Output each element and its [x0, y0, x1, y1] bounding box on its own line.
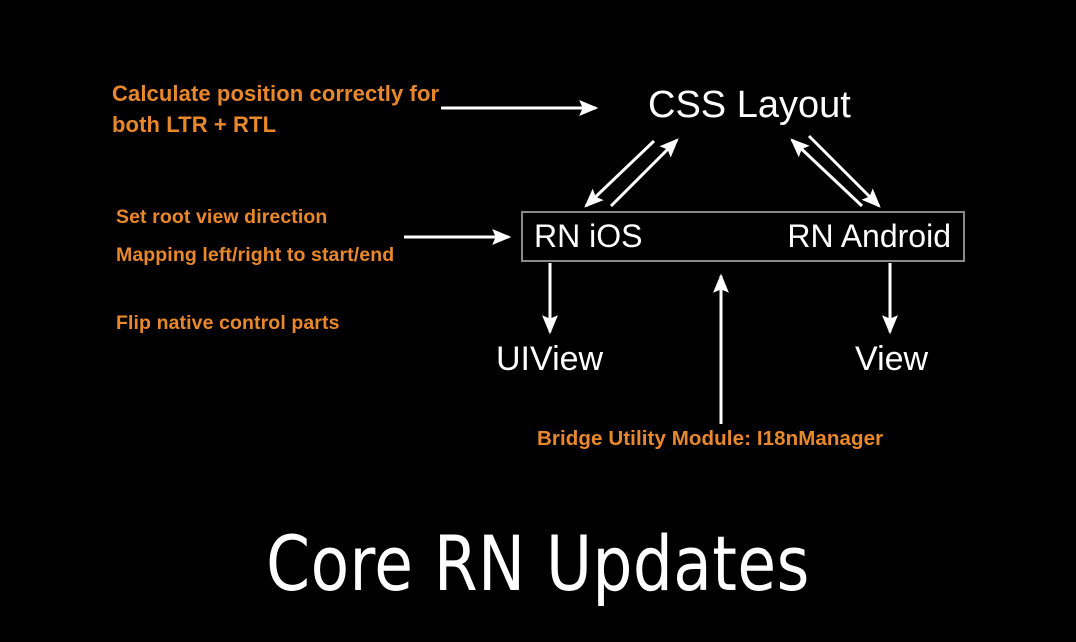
note-bridge-utility-module: Bridge Utility Module: I18nManager: [537, 425, 883, 453]
arrow-rn-android-to-css-layout: [792, 140, 862, 206]
note-calculate-position: Calculate position correctly for both LT…: [112, 78, 442, 140]
node-css-layout: CSS Layout: [648, 83, 851, 127]
rn-platforms-box: RN iOS RN Android: [521, 211, 965, 262]
node-uiview: UIView: [496, 338, 603, 380]
note-flip-native-control-parts: Flip native control parts: [116, 310, 416, 337]
arrow-css-layout-to-rn-android: [809, 136, 879, 206]
slide-title: Core RN Updates: [43, 516, 1033, 612]
node-view: View: [855, 338, 928, 380]
slide-canvas: Calculate position correctly for both LT…: [0, 0, 1076, 642]
note-mapping-left-right: Mapping left/right to start/end: [116, 240, 401, 271]
arrow-css-layout-to-rn-ios: [586, 141, 654, 206]
arrow-rn-ios-to-css-layout: [611, 140, 677, 206]
node-rn-android: RN Android: [787, 213, 951, 260]
note-set-root-view-direction: Set root view direction: [116, 204, 416, 231]
node-rn-ios: RN iOS: [534, 213, 642, 260]
